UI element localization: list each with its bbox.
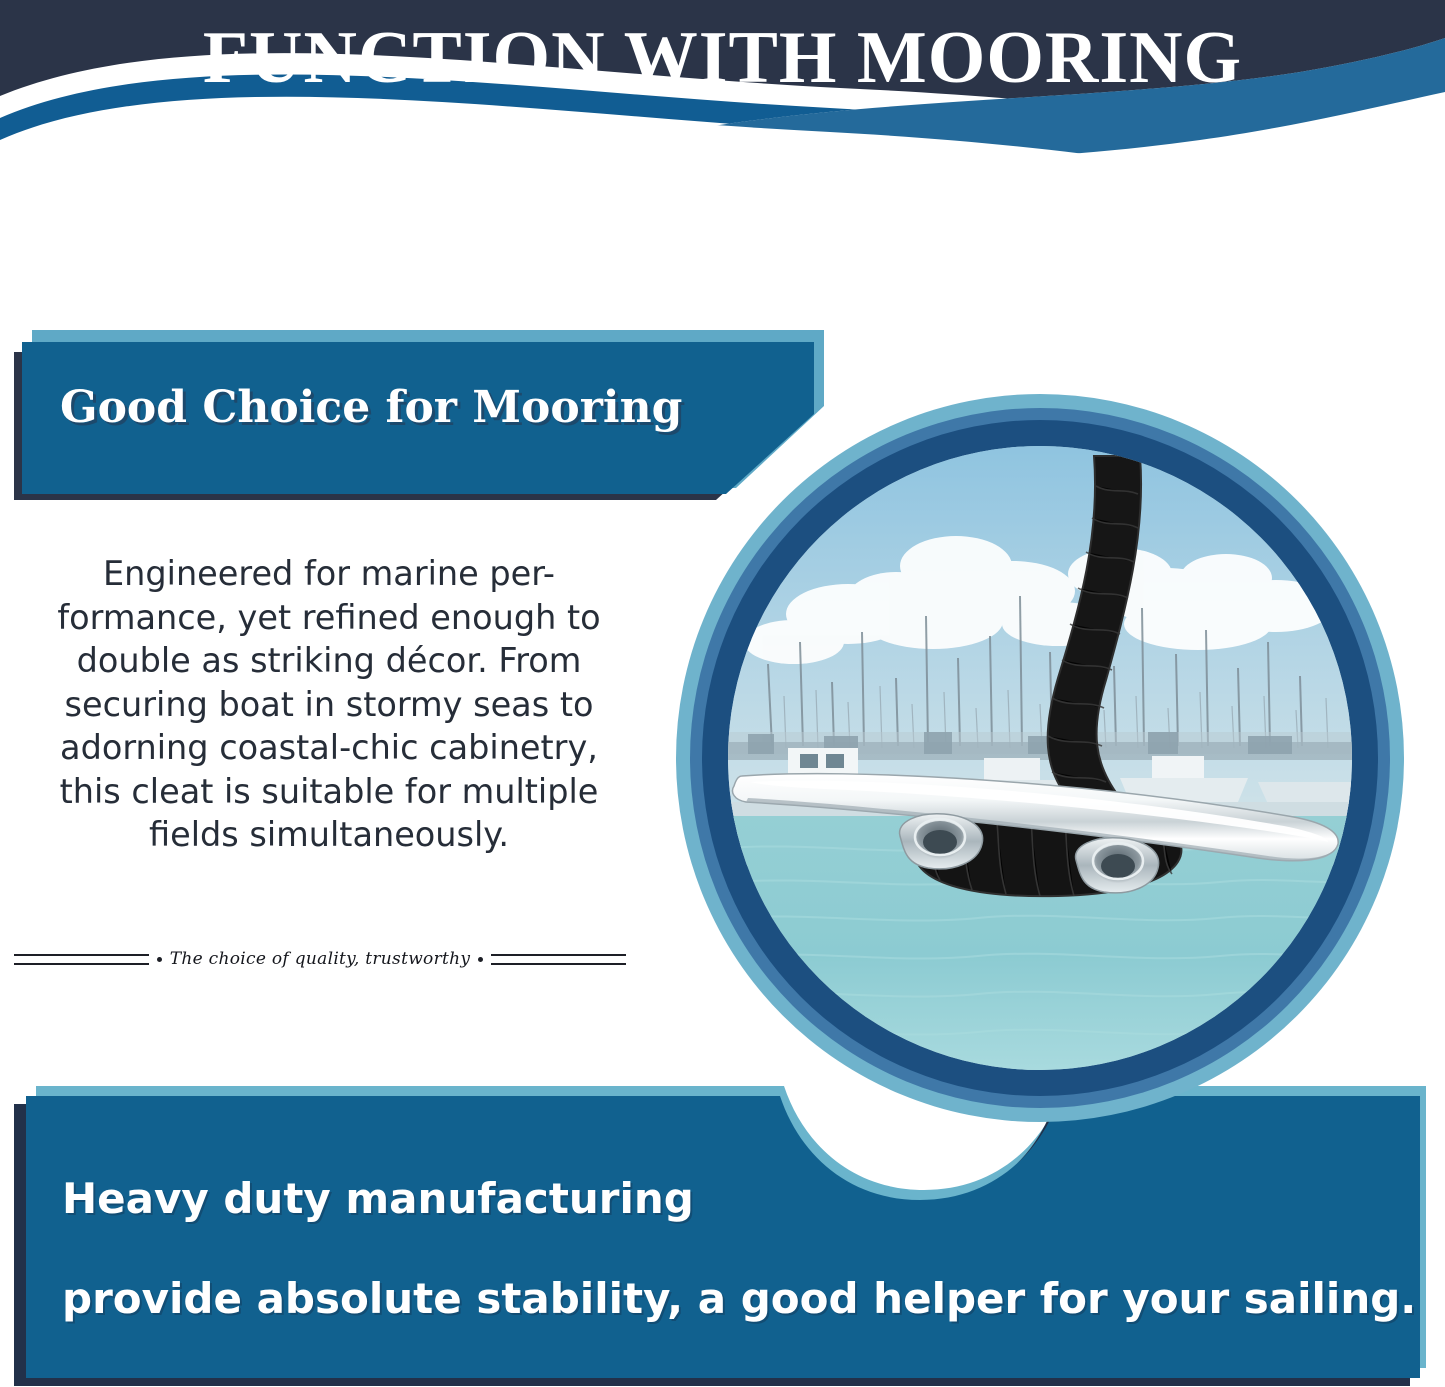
product-image-circle: CHO10570	[676, 394, 1404, 1122]
product-photo: CHO10570	[728, 446, 1352, 1070]
divider-rule-right	[491, 954, 626, 965]
divider-dot-right	[478, 957, 483, 962]
bottom-banner-line2: provide absolute stability, a good helpe…	[62, 1274, 1416, 1323]
top-banner-label: Good Choice for Mooring	[60, 382, 682, 433]
tagline-divider: The choice of quality, trustworthy	[14, 938, 626, 980]
bottom-banner-line1: Heavy duty manufacturing	[62, 1174, 694, 1223]
divider-dot-left	[157, 957, 162, 962]
page-header: FUNCTION WITH MOORING	[0, 0, 1445, 240]
bottom-banner: Heavy duty manufacturing provide absolut…	[14, 1086, 1434, 1386]
description-paragraph: Engineered for marine per-formance, yet …	[44, 552, 614, 857]
top-banner: Good Choice for Mooring	[14, 328, 834, 500]
divider-tagline: The choice of quality, trustworthy	[170, 949, 471, 969]
page-title: FUNCTION WITH MOORING	[0, 16, 1445, 101]
divider-rule-left	[14, 954, 149, 965]
bottom-banner-shape	[14, 1086, 1434, 1386]
product-photo-illustration: CHO10570	[728, 446, 1352, 1070]
